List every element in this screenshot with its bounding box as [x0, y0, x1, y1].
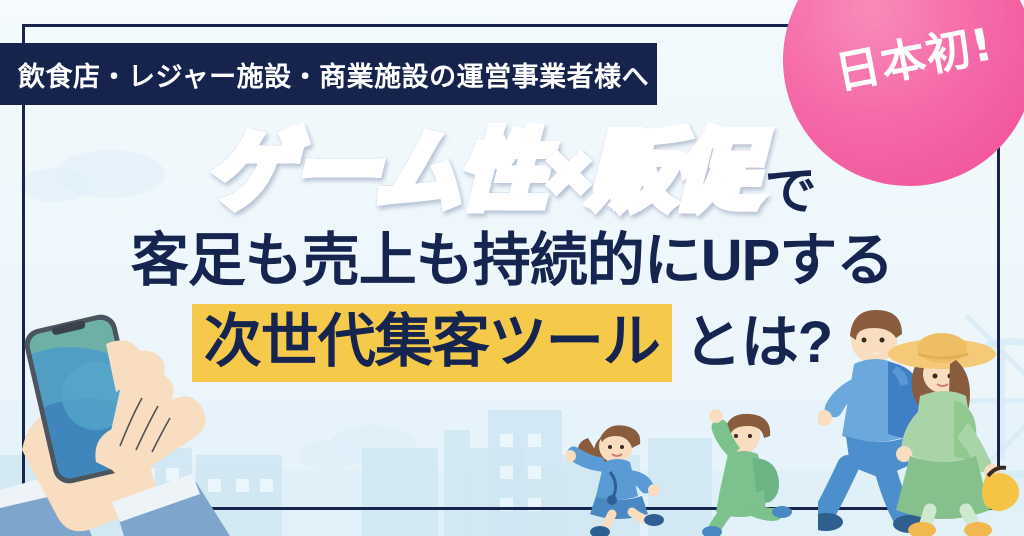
- running-boy-illustration: [690, 408, 810, 536]
- headline-promotion: 販促: [589, 129, 759, 215]
- building-silhouette: [362, 448, 438, 536]
- building-silhouette: [444, 430, 470, 536]
- target-audience-text: 飲食店・レジャー施設・商業施設の運営事業者様へ: [18, 55, 649, 94]
- headline-question: とは?: [684, 314, 832, 372]
- headline-line-2: 客足も売上も持続的にUPする: [0, 232, 1024, 290]
- headline-line-3: 次世代集客ツール とは?: [0, 304, 1024, 382]
- target-audience-bar: 飲食店・レジャー施設・商業施設の運営事業者様へ: [0, 43, 657, 105]
- building-silhouette: [488, 410, 562, 536]
- multiply-icon: ×: [547, 137, 587, 207]
- headline-gamification: ゲーム性: [207, 129, 544, 215]
- headline-particle: で: [765, 149, 817, 224]
- banner-canvas: 飲食店・レジャー施設・商業施設の運営事業者様へ 日本初! ゲーム性 × 販促 で…: [0, 0, 1024, 536]
- cloud-shape: [300, 440, 360, 470]
- running-girl-illustration: [566, 416, 686, 536]
- highlighted-tool-name: 次世代集客ツール: [192, 304, 672, 382]
